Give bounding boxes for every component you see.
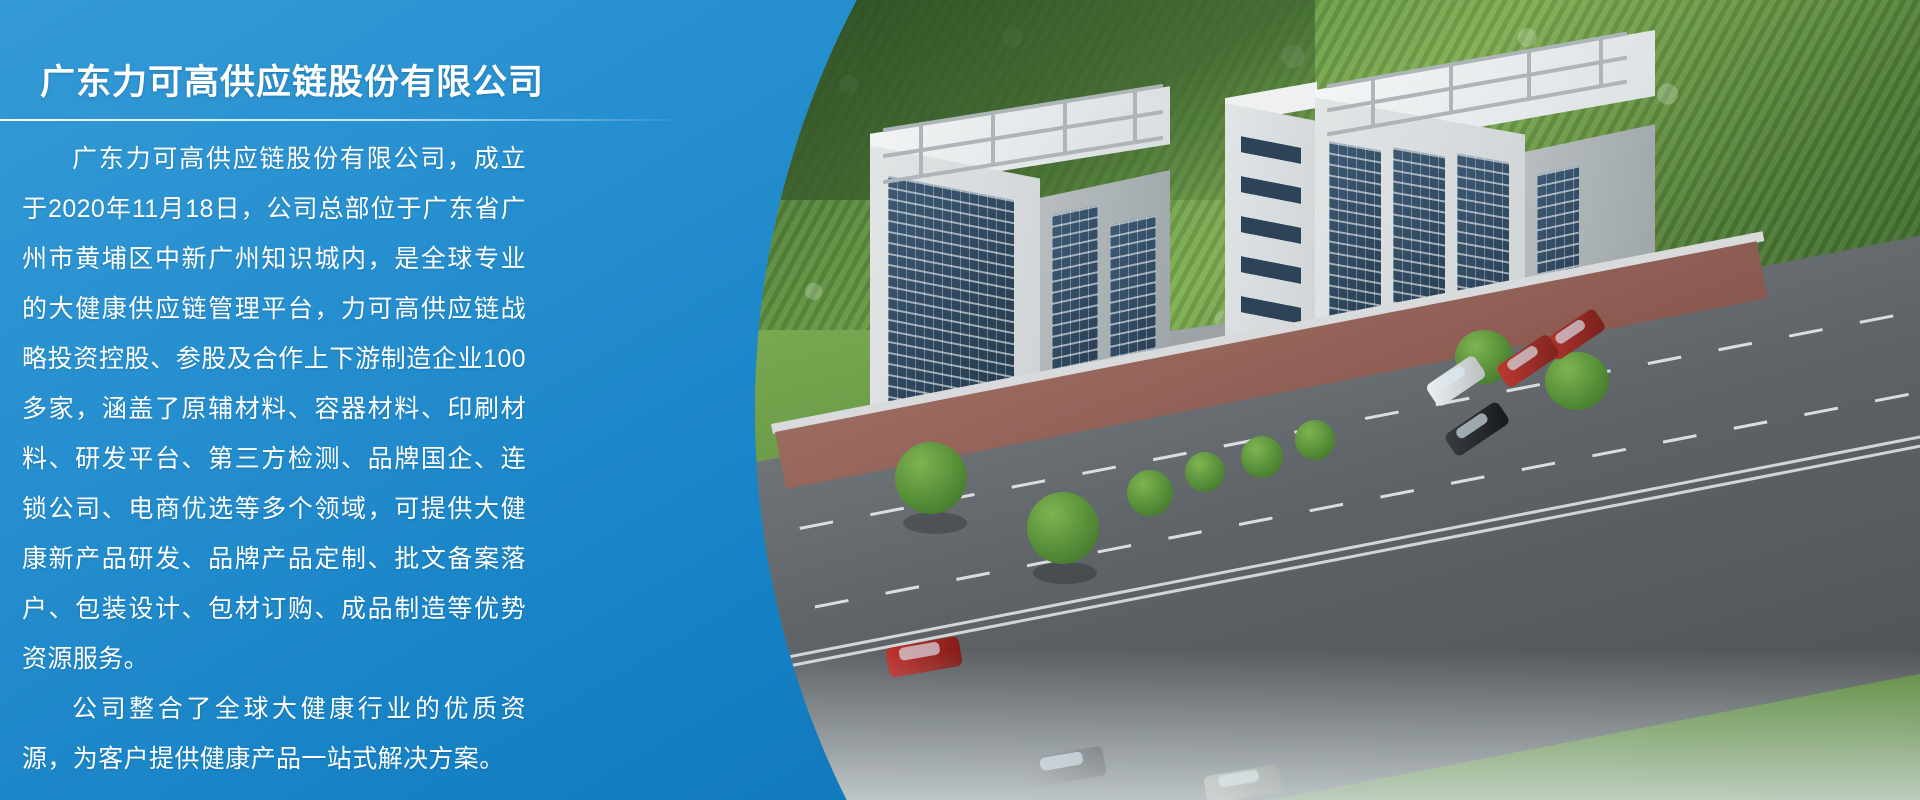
text-panel: 广东力可高供应链股份有限公司 广东力可高供应链股份有限公司，成立于2020年11…: [0, 0, 600, 800]
page-title: 广东力可高供应链股份有限公司: [40, 54, 544, 105]
tree-shadow: [903, 512, 967, 534]
park-tree: [1545, 352, 1609, 410]
shrub: [1127, 470, 1173, 516]
paragraph-2: 公司整合了全球大健康行业的优质资源，为客户提供健康产品一站式解决方案。: [22, 684, 526, 784]
street-tree: [895, 442, 967, 514]
shrub: [1295, 420, 1335, 460]
campus-photo: [755, 0, 1920, 800]
bottom-haze: [755, 650, 1920, 800]
shrub: [1185, 452, 1225, 492]
campus-photo-mask: [755, 0, 1920, 800]
shrub: [1241, 436, 1283, 478]
banner-stage: 广东力可高供应链股份有限公司 广东力可高供应链股份有限公司，成立于2020年11…: [0, 0, 1920, 800]
paragraph-1: 广东力可高供应链股份有限公司，成立于2020年11月18日，公司总部位于广东省广…: [22, 134, 526, 684]
street-tree: [1027, 492, 1099, 564]
title-divider: [0, 119, 690, 121]
company-description: 广东力可高供应链股份有限公司，成立于2020年11月18日，公司总部位于广东省广…: [22, 134, 526, 784]
tree-shadow: [1033, 562, 1097, 584]
